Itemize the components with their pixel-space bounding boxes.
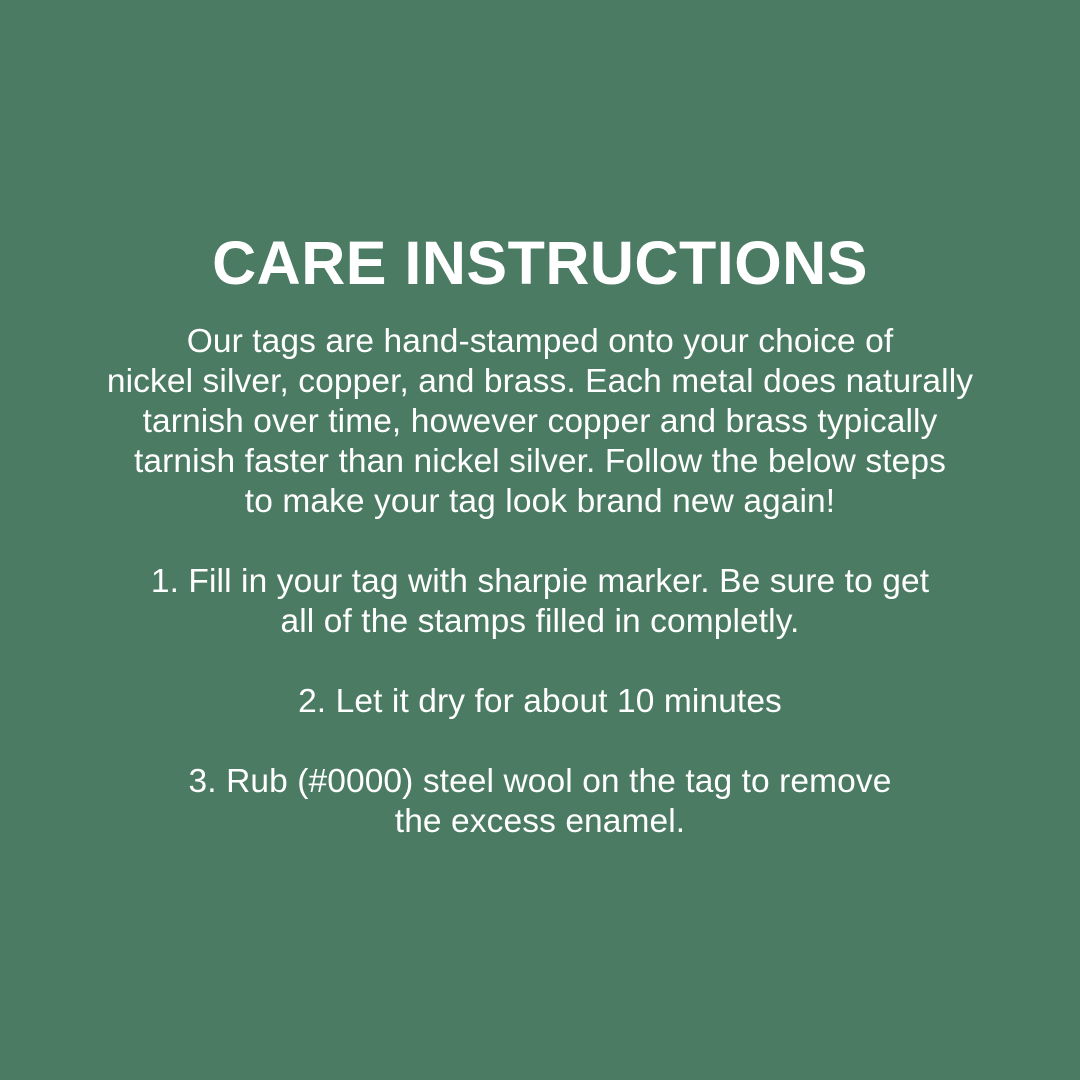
step-1-line-2: all of the stamps filled in completly. — [36, 602, 1044, 642]
step-3-line-1: 3. Rub (#0000) steel wool on the tag to … — [36, 762, 1044, 802]
step-1-line-1: 1. Fill in your tag with sharpie marker.… — [36, 562, 1044, 602]
page-title: CARE INSTRUCTIONS — [0, 229, 1080, 297]
step-item-3: 3. Rub (#0000) steel wool on the tag to … — [36, 762, 1044, 842]
intro-paragraph: Our tags are hand-stamped onto your choi… — [36, 322, 1044, 522]
intro-line-5: to make your tag look brand new again! — [36, 482, 1044, 522]
step-3-line-2: the excess enamel. — [36, 802, 1044, 842]
step-2-line-1: 2. Let it dry for about 10 minutes — [36, 682, 1044, 722]
care-instructions-card: CARE INSTRUCTIONS Our tags are hand-stam… — [0, 0, 1080, 1080]
intro-line-3: tarnish over time, however copper and br… — [36, 402, 1044, 442]
intro-line-2: nickel silver, copper, and brass. Each m… — [36, 362, 1044, 402]
care-instructions-body: Our tags are hand-stamped onto your choi… — [36, 322, 1044, 842]
intro-line-4: tarnish faster than nickel silver. Follo… — [36, 442, 1044, 482]
step-item-1: 1. Fill in your tag with sharpie marker.… — [36, 562, 1044, 642]
step-item-2: 2. Let it dry for about 10 minutes — [36, 682, 1044, 722]
intro-line-1: Our tags are hand-stamped onto your choi… — [36, 322, 1044, 362]
